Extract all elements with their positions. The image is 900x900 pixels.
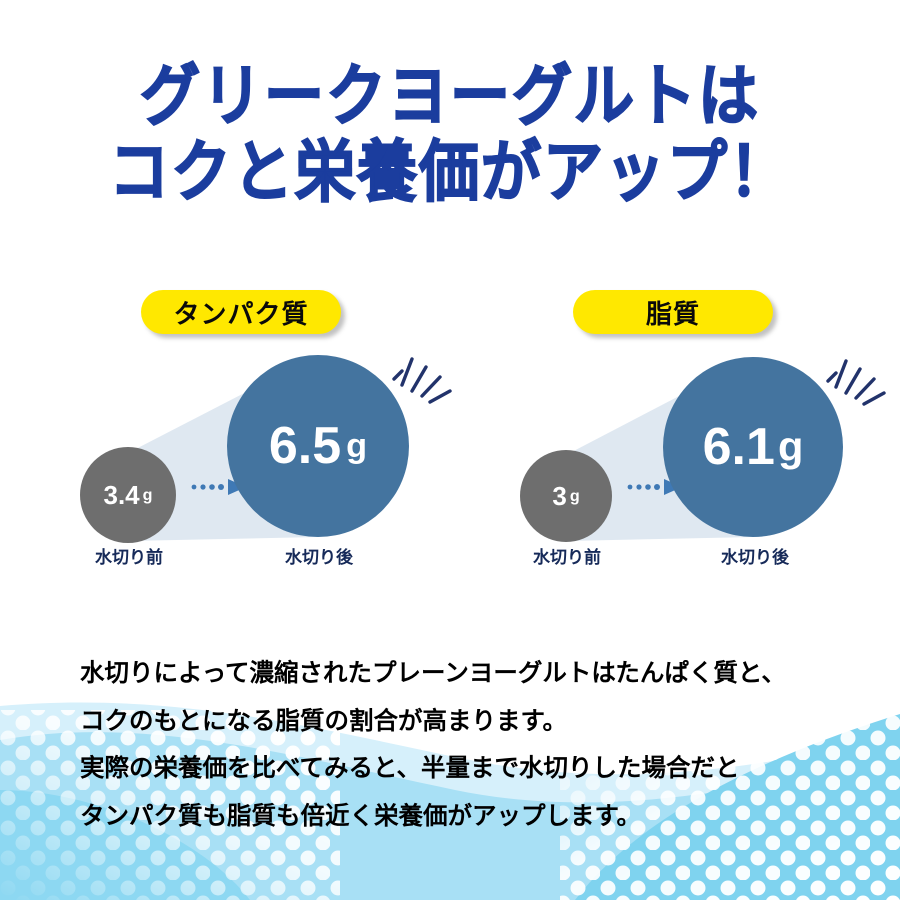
unit-after: g — [778, 423, 803, 471]
sparkle-icon — [390, 345, 460, 411]
value-before: 3 — [552, 481, 566, 512]
caption-before: 水切り前 — [512, 543, 622, 568]
body-line-4: タンパク質も脂質も倍近く栄養価がアップします。 — [80, 805, 870, 830]
circle-after-value: 6.1g — [663, 357, 843, 537]
circle-after-value: 6.5g — [227, 355, 409, 537]
value-after: 6.1 — [703, 417, 775, 477]
sparkle-icon — [824, 347, 894, 413]
unit-after: g — [346, 427, 367, 466]
value-before: 3.4 — [104, 480, 140, 511]
body-line-1: 水切りによって濃縮されたプレーンヨーグルトはたんぱく質と、 — [80, 662, 870, 687]
infographic-root: グリークヨーグルトは コクと栄養価がアップ！ タンパク質 脂質 3.4g 6.5… — [0, 0, 900, 900]
caption-after: 水切り後 — [686, 543, 824, 568]
title-line-1: グリークヨーグルトは — [0, 62, 900, 132]
caption-after: 水切り後 — [250, 543, 388, 568]
unit-before: g — [570, 487, 580, 506]
unit-before: g — [143, 486, 153, 505]
circle-before-value: 3.4g — [80, 447, 176, 543]
body-copy: 水切りによって濃縮されたプレーンヨーグルトはたんぱく質と、 コクのもとになる脂質… — [80, 662, 870, 852]
body-line-2: コクのもとになる脂質の割合が高まります。 — [80, 710, 870, 735]
circle-before-value: 3g — [520, 450, 612, 542]
comparison-panel-fat: 3g 6.1g 水切り前 水切り後 — [500, 345, 890, 585]
title-line-2: コクと栄養価がアップ！ — [0, 138, 900, 208]
comparison-panel-protein: 3.4g 6.5g 水切り前 水切り後 — [72, 345, 462, 585]
page-title: グリークヨーグルトは コクと栄養価がアップ！ — [0, 62, 900, 201]
caption-before: 水切り前 — [74, 543, 184, 568]
body-line-3: 実際の栄養価を比べてみると、半量まで水切りした場合だと — [80, 757, 870, 782]
badge-fat: 脂質 — [573, 290, 773, 334]
badge-protein: タンパク質 — [141, 290, 341, 334]
value-after: 6.5 — [269, 416, 341, 476]
